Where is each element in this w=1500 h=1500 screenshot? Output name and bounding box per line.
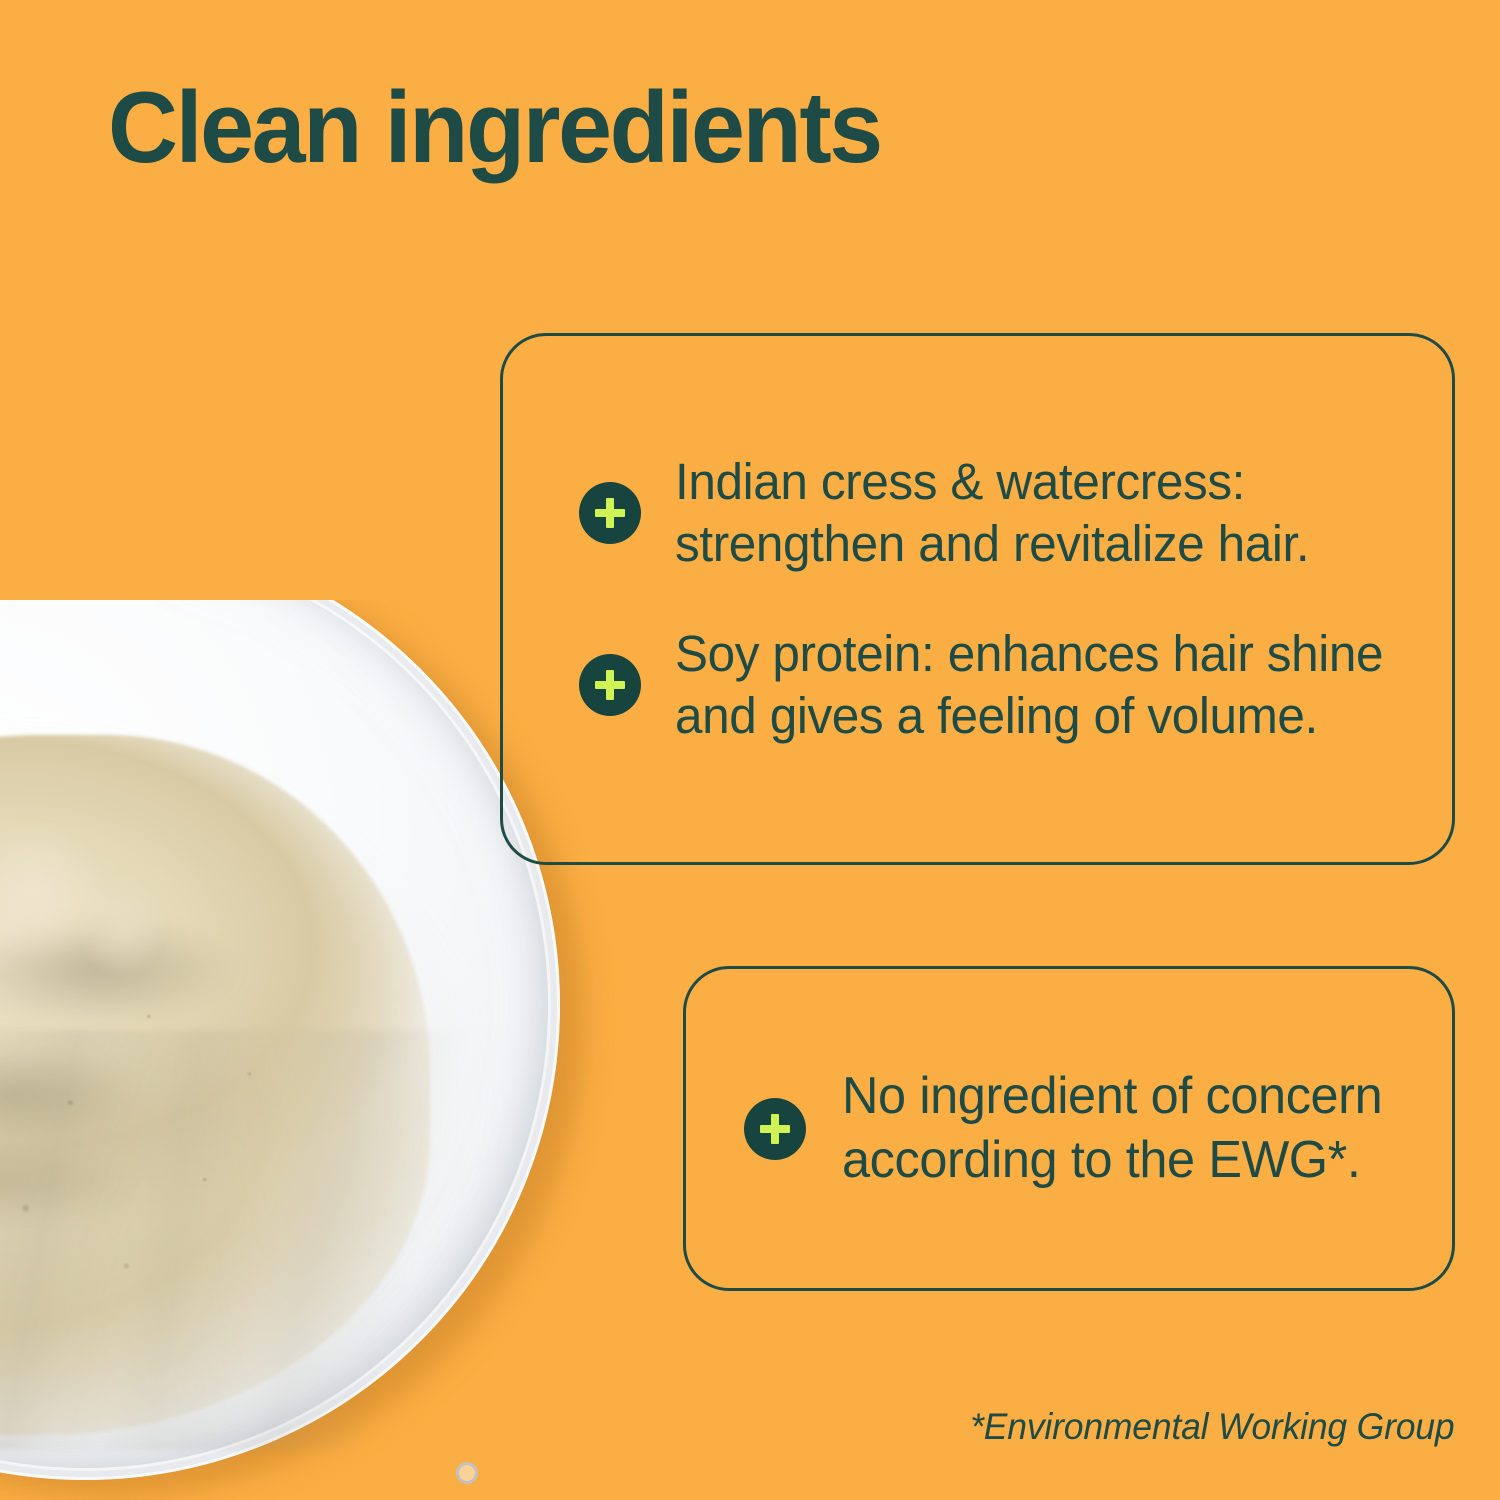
dish-shadow	[0, 600, 585, 1496]
dish-rim-mark-icon	[456, 1462, 478, 1484]
list-item: No ingredient of concern according to th…	[744, 1065, 1408, 1193]
page-title: Clean ingredients	[108, 78, 881, 179]
powder-streaks	[0, 1030, 480, 1450]
list-item: Soy protein: enhances hair shine and giv…	[579, 623, 1408, 747]
powder-highlights	[0, 740, 340, 1160]
powder-haze	[0, 720, 520, 1500]
list-item-label: Soy protein: enhances hair shine and giv…	[675, 623, 1386, 747]
powder-specks	[0, 930, 440, 1410]
list-item: Indian cress & watercress: strengthen an…	[579, 451, 1408, 575]
powder-shadow	[0, 780, 390, 1340]
powder-mound	[0, 735, 430, 1435]
ingredients-card: Indian cress & watercress: strengthen an…	[500, 333, 1455, 865]
footnote: *Environmental Working Group	[970, 1406, 1454, 1448]
product-feature-graphic: Clean ingredients Indian cress & watercr…	[0, 0, 1500, 1500]
dish-glass	[0, 600, 560, 1480]
ewg-card: No ingredient of concern according to th…	[683, 966, 1455, 1291]
dish-rim	[0, 600, 560, 1480]
list-item-label: Indian cress & watercress: strengthen an…	[675, 451, 1386, 575]
plus-icon	[579, 654, 641, 716]
list-item-label: No ingredient of concern according to th…	[842, 1065, 1391, 1193]
plus-icon	[579, 482, 641, 544]
plus-icon	[744, 1098, 806, 1160]
